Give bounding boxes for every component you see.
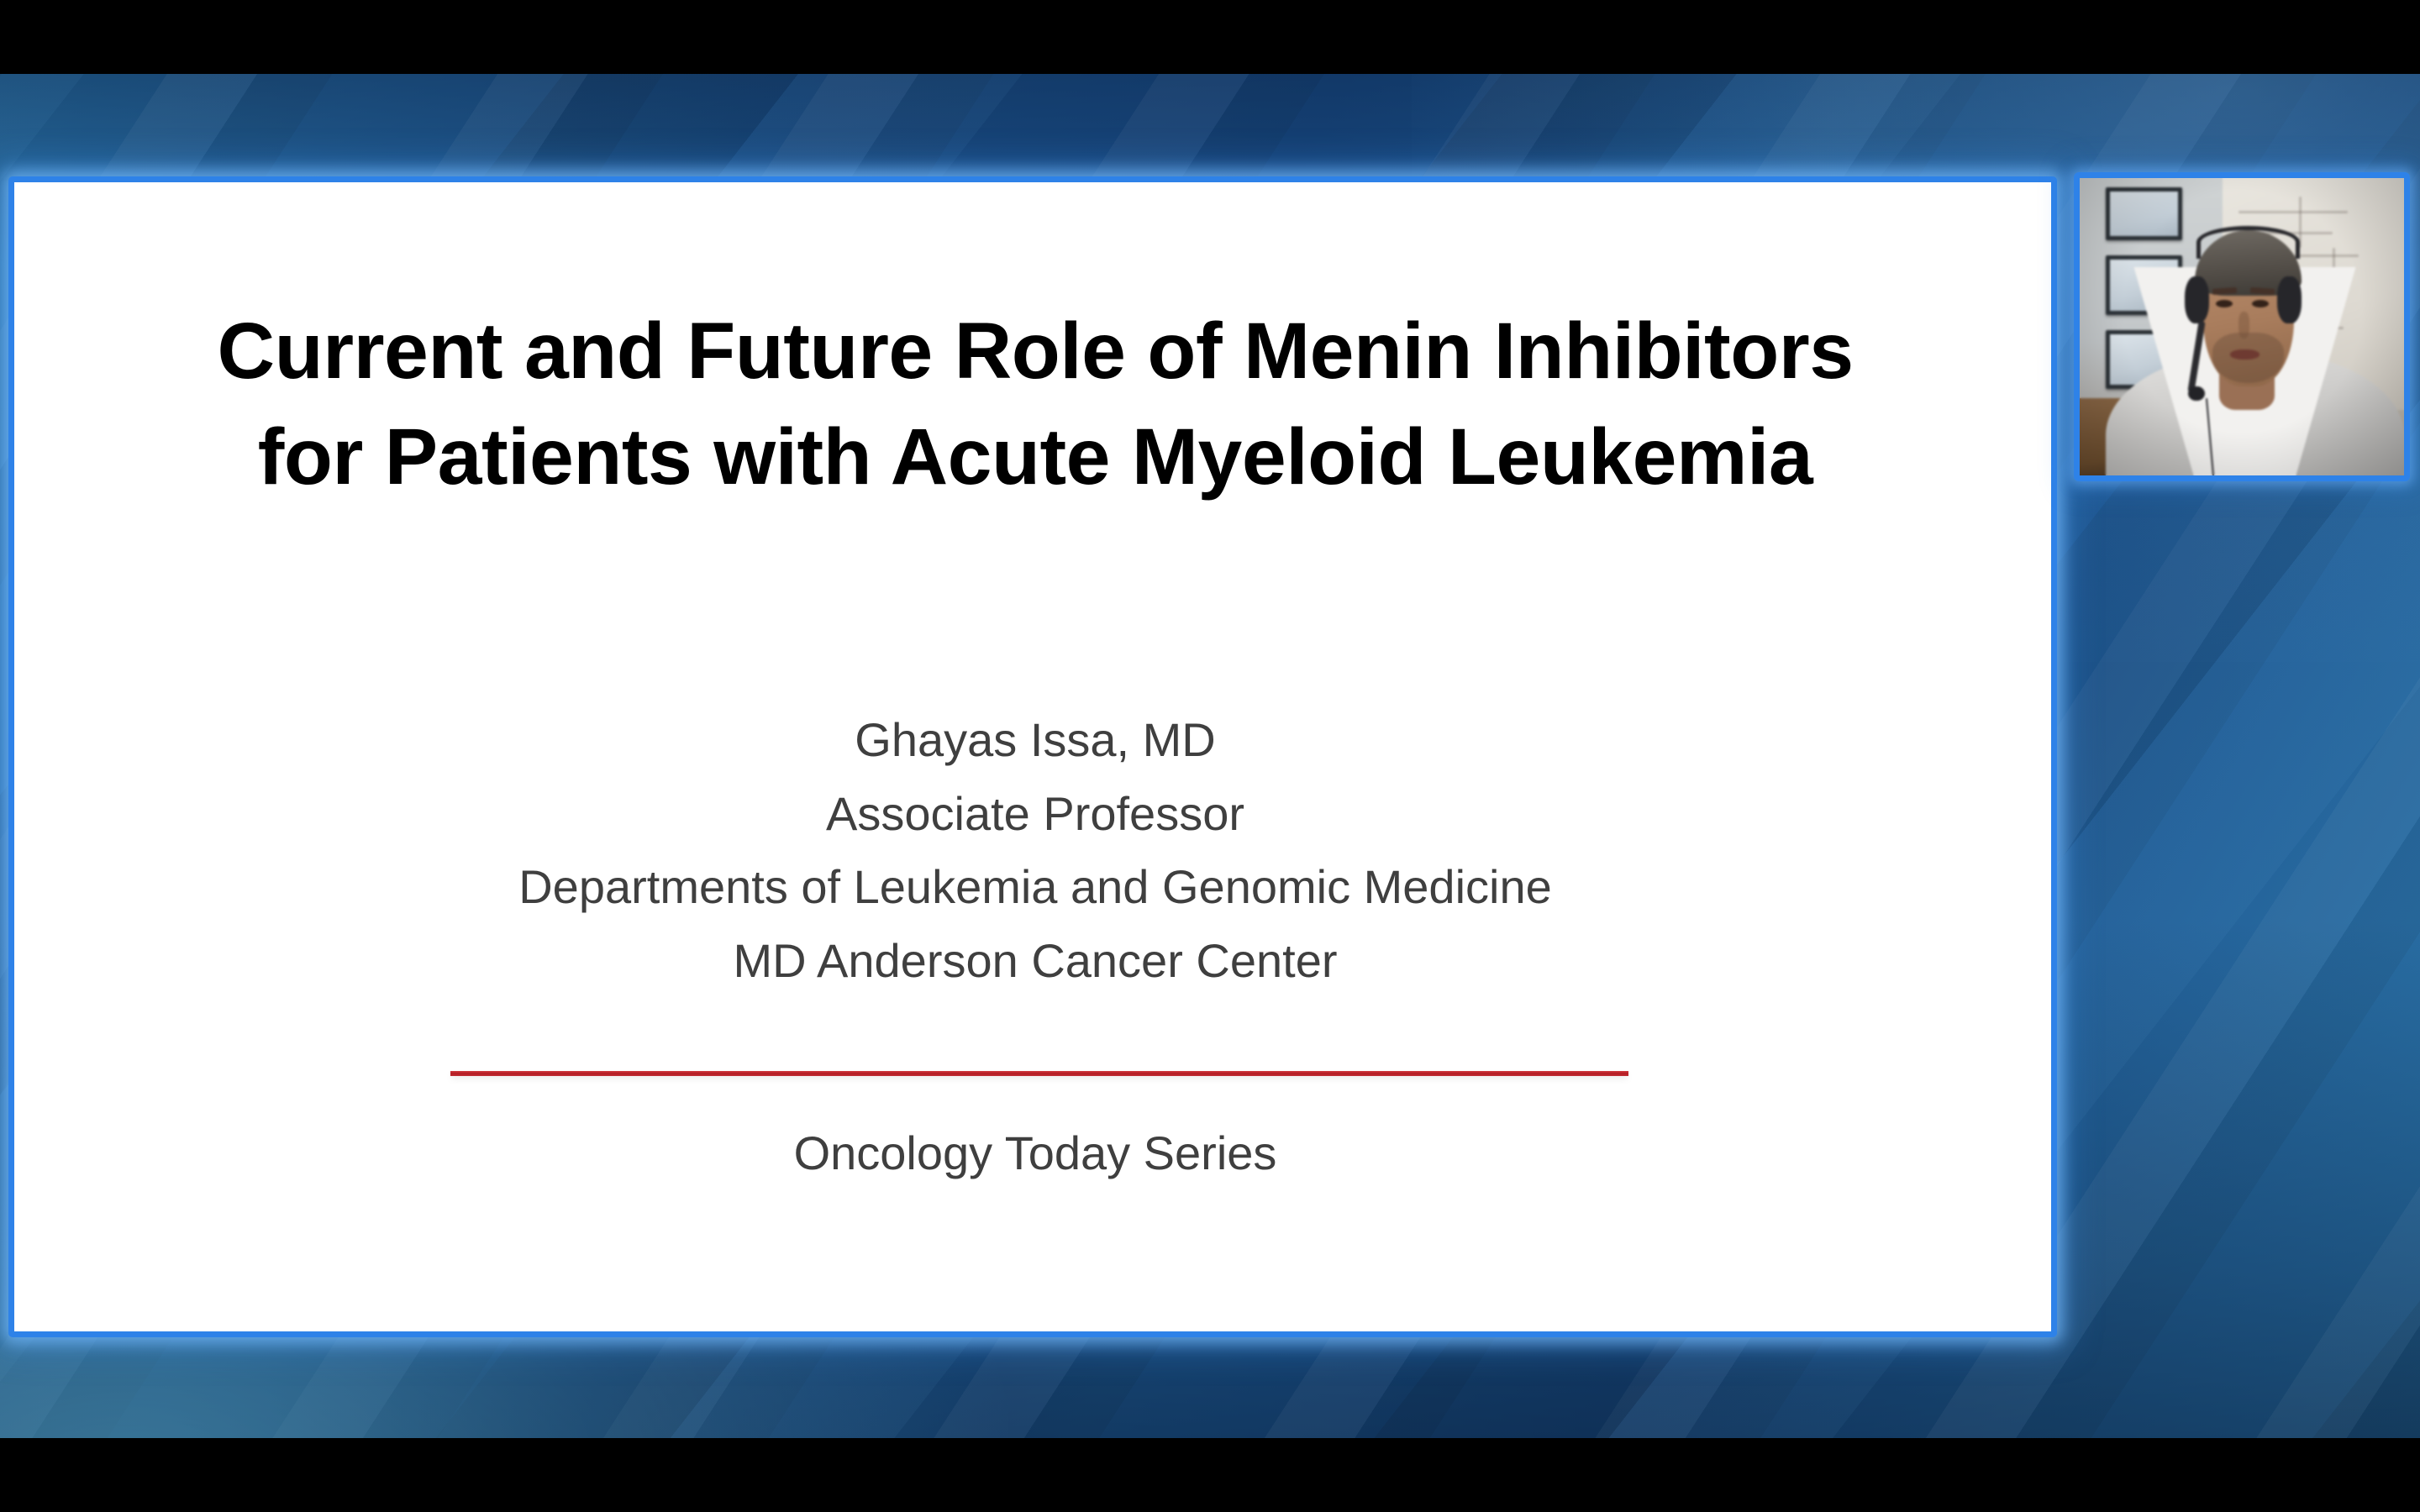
- nose: [2238, 312, 2249, 339]
- presenter-department: Departments of Leukemia and Genomic Medi…: [140, 850, 1930, 924]
- video-player-stage: Current and Future Role of Menin Inhibit…: [0, 0, 2420, 1512]
- headset-earcup-left: [2185, 276, 2209, 324]
- red-divider-line: [450, 1071, 1628, 1076]
- mouth: [2230, 349, 2260, 360]
- series-label: Oncology Today Series: [140, 1125, 1930, 1181]
- presenter-webcam-video: [2080, 178, 2404, 475]
- presenter-name: Ghayas Issa, MD: [140, 703, 1930, 777]
- slide-presenter-block: Ghayas Issa, MD Associate Professor Depa…: [140, 703, 1930, 998]
- slide-surface: Current and Future Role of Menin Inhibit…: [14, 182, 2051, 1331]
- presenter-institution: MD Anderson Cancer Center: [140, 924, 1930, 998]
- presenter-role: Associate Professor: [140, 777, 1930, 851]
- presenter-webcam-panel[interactable]: [2074, 172, 2410, 481]
- headset-band: [2196, 226, 2301, 259]
- letterbox-bottom: [0, 1438, 2420, 1512]
- headset-earcup-right: [2277, 276, 2302, 324]
- presentation-slide-panel: Current and Future Role of Menin Inhibit…: [8, 176, 2057, 1337]
- letterbox-top: [0, 0, 2420, 74]
- headset-mic: [2188, 386, 2204, 402]
- slide-title: Current and Future Role of Menin Inhibit…: [191, 298, 1880, 511]
